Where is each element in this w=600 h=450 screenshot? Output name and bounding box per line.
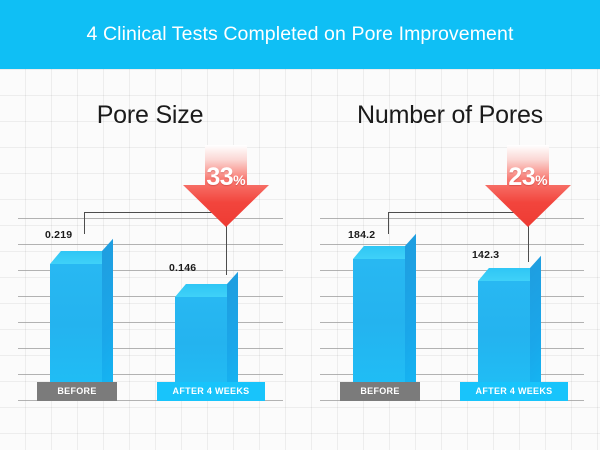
bar-value-label: 184.2 — [348, 229, 375, 241]
bar-front-face — [353, 259, 405, 401]
connector-line-left — [84, 212, 85, 234]
reduction-percent-number: 23 — [508, 163, 535, 191]
reduction-percent-text: 23% — [485, 165, 571, 190]
category-badge-after: AFTER 4 WEEKS — [460, 382, 568, 401]
chart-panel-pore-size: Pore Size — [0, 69, 300, 450]
bar-before — [353, 246, 405, 401]
bar-value-label: 0.219 — [45, 229, 72, 241]
reduction-arrow-icon: 33% — [183, 145, 269, 231]
category-badge-after: AFTER 4 WEEKS — [157, 382, 265, 401]
infographic-root: 4 Clinical Tests Completed on Pore Impro… — [0, 0, 600, 450]
bar-value-label: 142.3 — [472, 249, 499, 261]
bar-side-face — [530, 256, 541, 401]
reduction-percent-symbol: % — [535, 172, 547, 188]
header-banner: 4 Clinical Tests Completed on Pore Impro… — [0, 0, 600, 69]
category-badge-before: BEFORE — [37, 382, 117, 401]
bar-front-face — [50, 264, 102, 401]
reduction-arrow-icon: 23% — [485, 145, 571, 231]
chart-panel-number-of-pores: Number of Pores — [300, 69, 600, 450]
bar-side-face — [102, 239, 113, 401]
bar-side-face — [405, 234, 416, 401]
chart-title: Pore Size — [0, 101, 300, 130]
reduction-percent-number: 33 — [206, 163, 233, 191]
connector-line-left — [388, 212, 389, 234]
chart-title: Number of Pores — [300, 101, 600, 130]
bar-value-label: 0.146 — [169, 262, 196, 274]
bar-before — [50, 251, 102, 401]
reduction-percent-text: 33% — [183, 165, 269, 190]
reduction-percent-symbol: % — [233, 172, 245, 188]
category-badge-before: BEFORE — [340, 382, 420, 401]
page-title: 4 Clinical Tests Completed on Pore Impro… — [87, 23, 514, 46]
